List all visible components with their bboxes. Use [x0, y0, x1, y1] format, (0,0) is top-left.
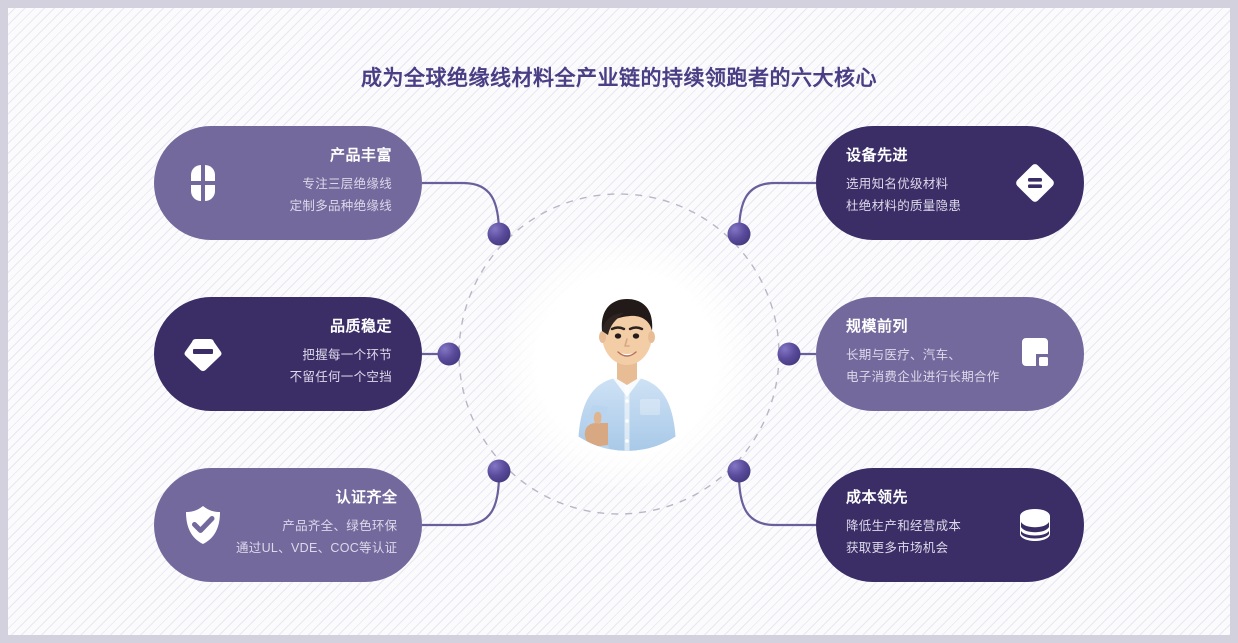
wire-left-top	[422, 183, 499, 234]
connector-dot-left-bottom	[488, 460, 511, 483]
clover-icon	[180, 160, 226, 206]
wire-right-top	[739, 183, 816, 234]
card-title: 产品丰富	[330, 148, 392, 165]
connector-dot-left-middle	[438, 343, 461, 366]
card-line-2: 杜绝材料的质量隐患	[846, 196, 961, 218]
card-line-2: 定制多品种绝缘线	[290, 196, 392, 218]
card-line-1: 选用知名优级材料	[846, 174, 948, 196]
shield-check-icon	[180, 502, 226, 548]
wire-right-bottom	[739, 474, 816, 525]
content-panel: 成为全球绝缘线材料全产业链的持续领跑者的六大核心	[8, 8, 1230, 635]
card-cost-leading[interactable]: 成本领先 降低生产和经营成本 获取更多市场机会	[816, 468, 1084, 582]
gem-minus-icon	[180, 331, 226, 377]
diamond-bars-icon	[1012, 160, 1058, 206]
card-line-1: 产品齐全、绿色环保	[282, 516, 397, 538]
card-title: 品质稳定	[330, 319, 392, 336]
card-line-2: 电子消费企业进行长期合作	[846, 367, 1000, 389]
card-text: 成本领先 降低生产和经营成本 获取更多市场机会	[846, 490, 1002, 559]
database-icon	[1012, 502, 1058, 548]
card-text: 产品丰富 专注三层绝缘线 定制多品种绝缘线	[236, 148, 392, 217]
card-text: 设备先进 选用知名优级材料 杜绝材料的质量隐患	[846, 148, 1002, 217]
connector-dot-right-bottom	[728, 460, 751, 483]
card-title: 认证齐全	[335, 490, 397, 507]
card-product-rich[interactable]: 产品丰富 专注三层绝缘线 定制多品种绝缘线	[154, 126, 422, 240]
square-notch-icon	[1012, 331, 1058, 377]
card-text: 品质稳定 把握每一个环节 不留任何一个空挡	[236, 319, 392, 388]
card-equipment-advanced[interactable]: 设备先进 选用知名优级材料 杜绝材料的质量隐患	[816, 126, 1084, 240]
card-text: 认证齐全 产品齐全、绿色环保 通过UL、VDE、COC等认证	[236, 490, 397, 559]
center-photo	[538, 273, 716, 451]
card-line-2: 获取更多市场机会	[846, 538, 948, 560]
card-line-1: 专注三层绝缘线	[302, 174, 392, 196]
wire-left-bottom	[422, 474, 499, 525]
connector-dot-right-middle	[778, 343, 801, 366]
card-scale-leading[interactable]: 规模前列 长期与医疗、汽车、 电子消费企业进行长期合作	[816, 297, 1084, 411]
card-quality-stable[interactable]: 品质稳定 把握每一个环节 不留任何一个空挡	[154, 297, 422, 411]
card-line-1: 把握每一个环节	[302, 345, 392, 367]
card-line-1: 长期与医疗、汽车、	[846, 345, 961, 367]
card-title: 设备先进	[846, 148, 908, 165]
card-line-1: 降低生产和经营成本	[846, 516, 961, 538]
smiling-man-thumbs-up-illustration	[538, 273, 716, 451]
card-title: 成本领先	[846, 490, 908, 507]
card-certification-complete[interactable]: 认证齐全 产品齐全、绿色环保 通过UL、VDE、COC等认证	[154, 468, 422, 582]
card-line-2: 通过UL、VDE、COC等认证	[236, 538, 397, 560]
connector-dot-left-top	[488, 223, 511, 246]
connector-dot-right-top	[728, 223, 751, 246]
card-text: 规模前列 长期与医疗、汽车、 电子消费企业进行长期合作	[846, 319, 1002, 388]
card-title: 规模前列	[846, 319, 908, 336]
card-line-2: 不留任何一个空挡	[290, 367, 392, 389]
infographic-root: 成为全球绝缘线材料全产业链的持续领跑者的六大核心	[0, 0, 1238, 643]
